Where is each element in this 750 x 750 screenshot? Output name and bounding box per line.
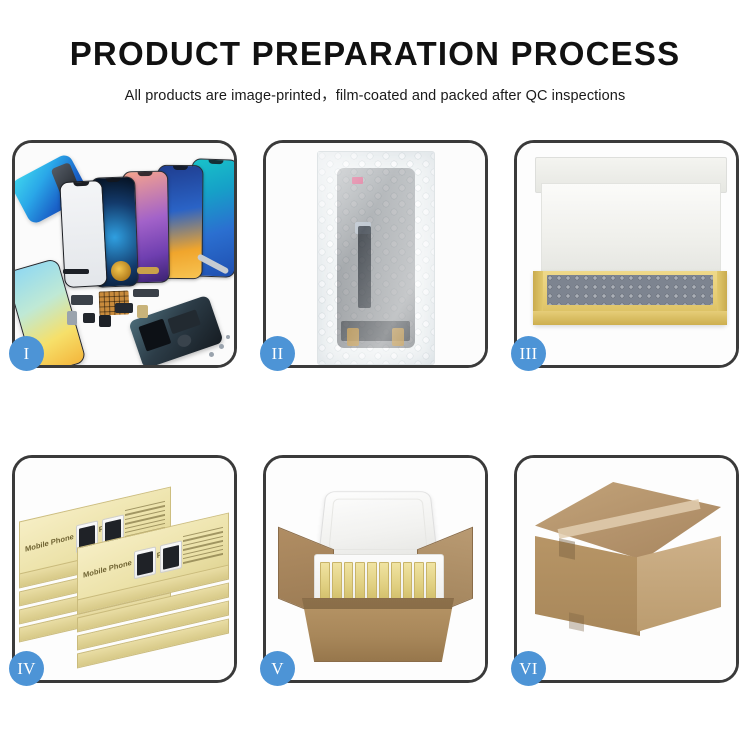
yellow-box-tray-icon [533,271,727,325]
bubble-wrap-bag-icon [317,151,435,365]
product-preparation-process-page: PRODUCT PREPARATION PROCESS All products… [0,0,750,750]
screw-2-icon [209,352,214,357]
small-part-2-icon [99,315,111,327]
carton-body-icon [302,598,454,662]
small-part-3-icon [115,303,133,313]
step-panel-6[interactable]: VI [514,455,739,683]
step-image-4: Mobile Phone Spare Parts Mobile Phone Sp… [15,458,234,680]
process-steps-grid: I [12,140,739,683]
tray-front-lip [533,311,727,325]
bubble-wrap-illustration [266,143,485,365]
step-image-1 [15,143,234,365]
foam-carton-illustration [266,458,485,680]
step-panel-4[interactable]: Mobile Phone Spare Parts Mobile Phone Sp… [12,455,237,683]
flex-strip-icon [63,269,89,274]
carton-tab-top [559,538,575,559]
step-panel-3[interactable]: III [514,140,739,368]
small-part-1-icon [83,313,95,323]
step-image-5 [266,458,485,680]
step-panel-5[interactable]: V [263,455,488,683]
page-title: PRODUCT PREPARATION PROCESS [0,36,750,72]
phones-and-parts-illustration [15,143,234,365]
step-badge-1: I [9,336,44,371]
flex-cable-1-icon [137,267,159,274]
lcd-screen-icon [337,168,415,348]
carton-tab-bottom [569,612,584,631]
header: PRODUCT PREPARATION PROCESS All products… [0,0,750,105]
foam-sheet-icon [541,183,721,279]
stacked-boxes-illustration: Mobile Phone Spare Parts Mobile Phone Sp… [15,458,234,680]
box-spec-lines-2 [183,527,223,570]
flex-cable-2-icon [133,289,159,297]
step-image-6 [517,458,736,680]
step-image-2 [266,143,485,365]
page-subtitle: All products are image-printed，film-coat… [0,84,750,105]
connector-icon [67,311,77,325]
lcd-flex-cable-icon [358,226,371,309]
speaker-coil-icon [111,261,131,281]
lcd-tab-2-icon [392,328,404,346]
pink-sticker-icon [352,177,363,184]
lcd-tab-1-icon [347,328,359,346]
carton-inner-shadow [303,599,453,609]
step-badge-5: V [260,651,295,686]
step-badge-3: III [511,336,546,371]
sealed-carton-illustration [517,458,736,680]
screw-3-icon [226,335,230,339]
screw-1-icon [219,344,224,349]
step-badge-2: II [260,336,295,371]
small-part-4-icon [137,305,148,318]
open-inner-box-illustration [517,143,736,365]
step-badge-6: VI [511,651,546,686]
step-panel-1[interactable]: I [12,140,237,368]
box-phone-image-4 [160,540,182,573]
step-badge-4: IV [9,651,44,686]
bubble-wrapped-contents-icon [547,275,713,305]
flex-cable-3-icon [71,295,93,305]
step-panel-2[interactable]: II [263,140,488,368]
step-image-3 [517,143,736,365]
box-phone-image-3 [134,546,156,579]
